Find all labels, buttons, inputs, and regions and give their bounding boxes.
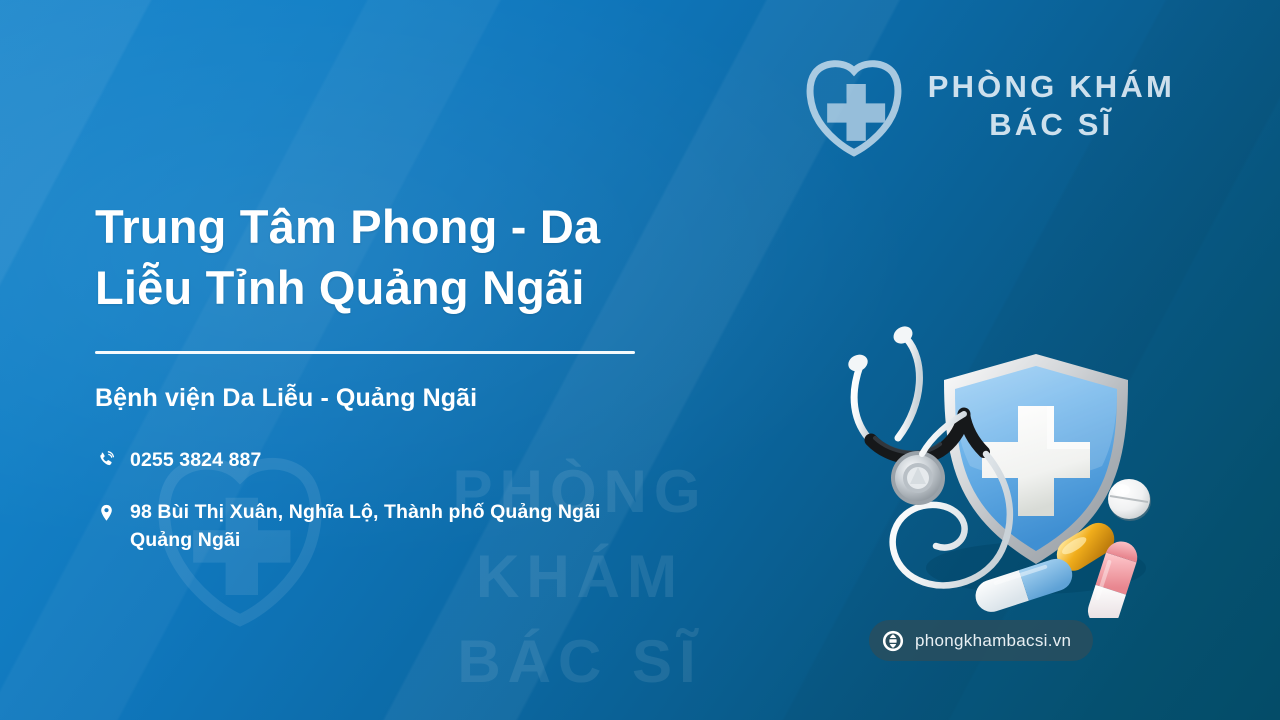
website-url-text: phongkhambacsi.vn (915, 631, 1071, 651)
map-pin-icon (95, 501, 117, 525)
main-content: Trung Tâm Phong - Da Liễu Tỉnh Quảng Ngã… (95, 196, 785, 578)
medical-cross-heart-icon (798, 55, 910, 157)
brand-logo: PHÒNG KHÁM BÁC SĨ (798, 55, 1175, 157)
clinic-banner: PHÒNG KHÁM BÁC SĨ PHÒNG KHÁM BÁC SĨ Trun… (0, 0, 1280, 720)
medical-shield-stethoscope-pills-illustration (840, 318, 1180, 618)
watermark-line-2: BÁC SĨ (345, 619, 815, 704)
divider (95, 351, 635, 354)
page-title: Trung Tâm Phong - Da Liễu Tỉnh Quảng Ngã… (95, 196, 785, 318)
phone-number: 0255 3824 887 (130, 447, 261, 475)
phone-call-icon (95, 448, 117, 472)
brand-text: PHÒNG KHÁM BÁC SĨ (928, 68, 1175, 144)
globe-icon (882, 630, 904, 652)
website-url-badge[interactable]: phongkhambacsi.vn (869, 620, 1093, 661)
address-line-2: Quảng Ngãi (130, 529, 240, 551)
address-text: 98 Bùi Thị Xuân, Nghĩa Lộ, Thành phố Quả… (130, 499, 601, 554)
title-line-2: Liễu Tỉnh Quảng Ngãi (95, 261, 585, 314)
address-line-1: 98 Bùi Thị Xuân, Nghĩa Lộ, Thành phố Quả… (130, 501, 601, 523)
chest-piece (891, 451, 945, 505)
brand-line-2: BÁC SĨ (928, 106, 1175, 144)
phone-row[interactable]: 0255 3824 887 (95, 447, 785, 475)
subtitle: Bệnh viện Da Liễu - Quảng Ngãi (95, 384, 785, 413)
brand-line-1: PHÒNG KHÁM (928, 68, 1175, 106)
address-row[interactable]: 98 Bùi Thị Xuân, Nghĩa Lộ, Thành phố Quả… (95, 499, 785, 554)
title-line-1: Trung Tâm Phong - Da (95, 200, 600, 253)
round-tablet (1108, 479, 1151, 521)
